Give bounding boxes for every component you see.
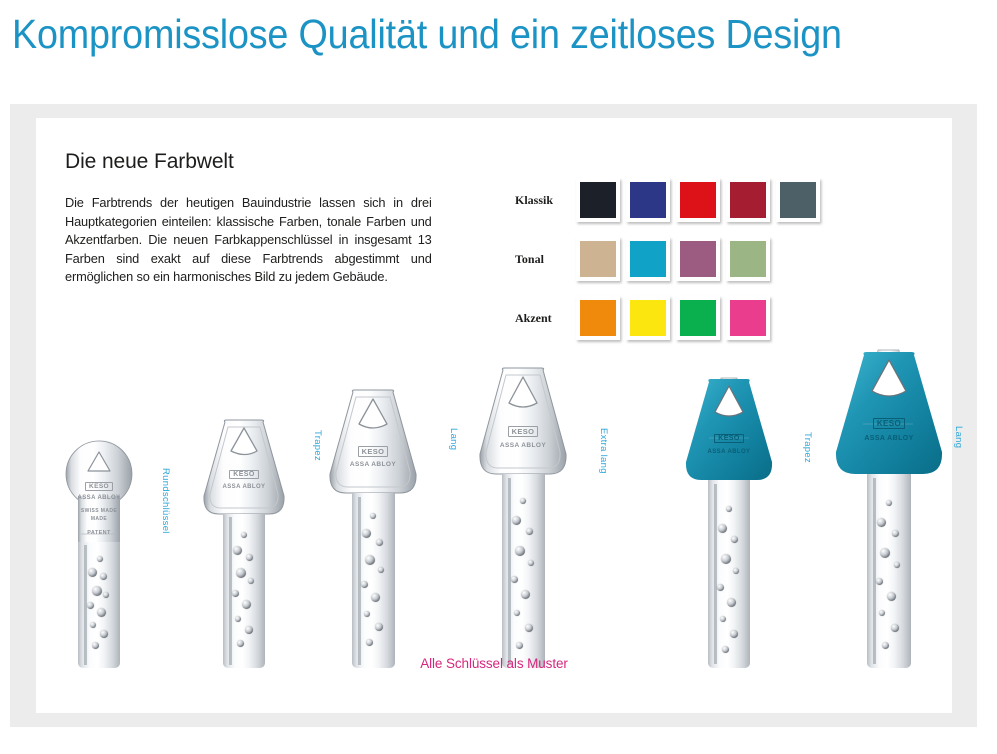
key-label-lang-2: Lang (953, 426, 964, 448)
blade-dimple (520, 498, 526, 504)
blade-dimple (882, 642, 889, 649)
blade-dimple (375, 623, 383, 631)
key-blade (223, 514, 265, 668)
blade-dimple (88, 568, 97, 577)
blade-dimple (245, 626, 253, 634)
key-blade (867, 474, 911, 668)
blade-dimple (879, 610, 885, 616)
key-mark-swiss: SWISS MADE (64, 508, 134, 514)
blade-dimple (362, 529, 371, 538)
blade-dimple (100, 573, 107, 580)
blade-dimple (97, 556, 103, 562)
blade-dimple (100, 630, 108, 638)
blade-dimple (717, 584, 724, 591)
key-label-trapez-2: Trapez (802, 432, 813, 463)
blade-groove (873, 478, 876, 664)
blade-dimple (370, 513, 376, 519)
key-label-extra-lang: Extra lang (598, 428, 609, 474)
blade-dimple (722, 646, 729, 653)
blade-dimple (877, 518, 886, 527)
blade-groove (358, 497, 361, 665)
key-brand-keso: KESO (64, 482, 134, 491)
key-gallery: KESO ASSA ABLOY SWISS MADE MADE PATENT (36, 118, 952, 713)
blade-dimple (364, 611, 370, 617)
key-brand-assa: ASSA ABLOY (64, 495, 134, 501)
key-brand-assa: ASSA ABLOY (681, 449, 777, 455)
blade-dimple (92, 642, 99, 649)
blade-dimple (366, 639, 373, 646)
blade-dimple (727, 598, 736, 607)
key-label-rundschluessel: Rundschlüssel (160, 468, 171, 534)
blade-dimple (246, 554, 253, 561)
blade-dimple (892, 530, 899, 537)
blade-dimple (103, 592, 109, 598)
key-extra-lang[interactable]: KESO ASSA ABLOY Extra lang (476, 366, 570, 668)
blade-dimple (521, 590, 530, 599)
key-brand-keso: KESO (326, 446, 420, 457)
blade-dimple (365, 555, 375, 565)
blade-groove (508, 478, 511, 664)
blade-dimple (232, 590, 239, 597)
blade-dimple (90, 622, 96, 628)
key-label-lang: Lang (448, 428, 459, 450)
content-panel: Die neue Farbwelt Die Farbtrends der heu… (36, 118, 952, 713)
blade-dimple (528, 560, 534, 566)
blade-dimple (371, 593, 380, 602)
page-title: Kompromisslose Qualität und ein zeitlose… (12, 8, 842, 60)
blade-dimple (511, 576, 518, 583)
blade-dimple (516, 642, 523, 649)
blade-dimple (236, 568, 246, 578)
blade-dimple (515, 546, 525, 556)
blade-dimple (512, 516, 521, 525)
key-blade (708, 480, 750, 668)
blade-dimple (876, 578, 883, 585)
blade-dimple (721, 554, 731, 564)
key-brand-assa: ASSA ABLOY (326, 461, 420, 468)
blade-dimple (514, 610, 520, 616)
blade-dimple (526, 528, 533, 535)
blade-dimple (361, 581, 368, 588)
key-brand-keso: KESO (681, 434, 777, 443)
blade-dimple (718, 524, 727, 533)
key-brand-keso: KESO (831, 418, 947, 429)
key-trapez-farbkappe[interactable]: KESO ASSA ABLOY Trapez (681, 376, 777, 668)
key-mark-patent: PATENT (64, 530, 134, 536)
key-blade (78, 542, 120, 668)
key-blade (352, 493, 395, 668)
blade-dimple (731, 536, 738, 543)
blade-dimple (720, 616, 726, 622)
key-label-trapez: Trapez (312, 430, 323, 461)
key-lang[interactable]: KESO ASSA ABLOY Lang (326, 388, 420, 668)
key-brand-assa: ASSA ABLOY (476, 442, 570, 449)
outer-frame: Die neue Farbwelt Die Farbtrends der heu… (10, 104, 977, 727)
blade-dimple (525, 624, 533, 632)
blade-dimple (242, 600, 251, 609)
blade-dimple (248, 578, 254, 584)
blade-dimple (880, 548, 890, 558)
keys-caption: Alle Schlüssel als Muster (36, 656, 952, 671)
blade-dimple (241, 532, 247, 538)
blade-dimple (233, 546, 242, 555)
blade-groove (714, 484, 717, 664)
blade-dimple (92, 586, 102, 596)
key-rundschluessel[interactable]: KESO ASSA ABLOY SWISS MADE MADE PATENT (64, 438, 134, 668)
blade-dimple (235, 616, 241, 622)
blade-dimple (237, 640, 244, 647)
blade-dimple (730, 630, 738, 638)
blade-dimple (733, 568, 739, 574)
key-brand-keso: KESO (476, 426, 570, 437)
blade-dimple (97, 608, 106, 617)
blade-dimple (887, 592, 896, 601)
key-blade (502, 474, 545, 668)
blade-dimple (891, 624, 899, 632)
blade-dimple (726, 506, 732, 512)
blade-dimple (886, 500, 892, 506)
key-trapez[interactable]: KESO ASSA ABLOY Trapez (201, 418, 287, 668)
key-mark-made: MADE (64, 516, 134, 522)
key-brand-keso: KESO (201, 470, 287, 479)
key-brand-assa: ASSA ABLOY (831, 435, 947, 442)
blade-dimple (378, 567, 384, 573)
blade-dimple (87, 602, 94, 609)
blade-dimple (376, 539, 383, 546)
key-brand-assa: ASSA ABLOY (201, 484, 287, 490)
blade-dimple (894, 562, 900, 568)
key-lang-farbkappe[interactable]: KESO ASSA ABLOY Lang (831, 348, 947, 668)
